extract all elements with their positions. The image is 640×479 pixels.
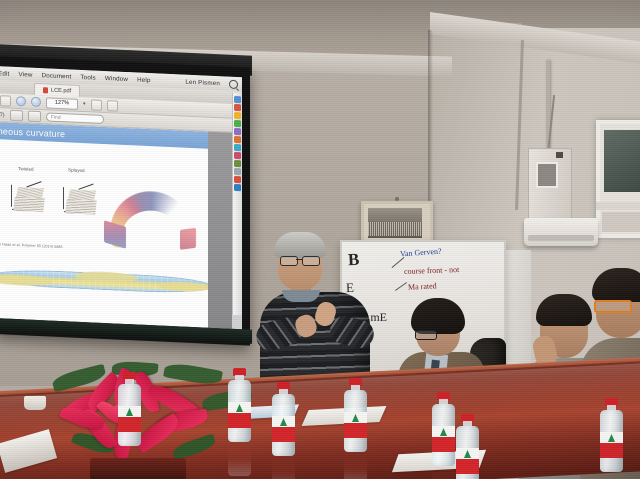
dock-icon[interactable] — [234, 168, 241, 175]
menu-item-edit[interactable]: Edit — [0, 70, 9, 78]
find-input[interactable]: Find — [46, 112, 104, 124]
menu-item-tools[interactable]: Tools — [80, 73, 95, 81]
zoom-level-field[interactable]: 127% — [46, 97, 78, 109]
plant-pot — [90, 458, 186, 479]
presenter-eyeglasses — [280, 256, 322, 264]
whiteboard-ink-4: Van Gerven? — [400, 247, 442, 259]
back-arrow-icon[interactable] — [16, 96, 26, 106]
slide-wavy-ribbon-graphic — [0, 262, 208, 298]
dock-icon[interactable] — [234, 184, 241, 191]
dock-icon[interactable] — [234, 160, 241, 167]
print-icon[interactable] — [107, 100, 118, 111]
forward-arrow-icon[interactable] — [31, 97, 41, 107]
projection-screen: Edit View Document Tools Window Help Len… — [0, 56, 250, 346]
menu-item-help[interactable]: Help — [137, 76, 151, 84]
highlight-icon[interactable] — [10, 110, 23, 122]
menubar-user-name[interactable]: Len Pismen — [185, 78, 220, 87]
dock-icon[interactable] — [234, 176, 241, 183]
air-conditioner-icon — [524, 218, 598, 246]
attendee-1-eyeglasses — [415, 330, 437, 340]
whiteboard-ink-1: B — [347, 250, 359, 271]
desktop-background — [208, 132, 232, 329]
annotate-icon[interactable] — [28, 111, 41, 123]
attendee-3-eyeglasses — [594, 300, 632, 313]
projected-desktop: Edit View Document Tools Window Help Len… — [0, 66, 242, 329]
menu-item-document[interactable]: Document — [42, 72, 72, 80]
dock-icon[interactable] — [234, 152, 241, 159]
attendee-2-hair — [536, 294, 592, 326]
slide-label-twisted: Twisted — [18, 166, 34, 172]
dock-icon[interactable] — [234, 104, 241, 111]
panel-display-window — [536, 162, 558, 188]
pdf-document-icon — [43, 87, 48, 93]
page-number-label: (7) — [0, 112, 5, 118]
sidebar-toggle-icon[interactable] — [0, 95, 11, 106]
macos-dock[interactable] — [232, 93, 242, 315]
chevron-down-icon[interactable]: ▾ — [83, 101, 86, 107]
window — [596, 120, 640, 238]
slide-diagram-twisted — [8, 175, 52, 221]
dock-icon[interactable] — [234, 112, 241, 119]
whiteboard-ink-5: course front - not — [404, 265, 460, 276]
presenter-hair — [274, 232, 326, 258]
conference-room-photo: B E Sic mE Van Gerven? course front - no… — [0, 0, 640, 479]
dock-icon[interactable] — [234, 144, 241, 151]
photo-image — [368, 208, 422, 238]
dock-icon[interactable] — [234, 136, 241, 143]
whiteboard-stroke-1 — [392, 257, 405, 268]
slide-citation: de Haan et al. Polymer 55 (2014) 5885 — [0, 242, 63, 249]
search-icon[interactable] — [229, 79, 238, 88]
menu-item-view[interactable]: View — [18, 71, 32, 79]
pdf-tab-label: LCE.pdf — [51, 87, 71, 94]
menu-item-window[interactable]: Window — [105, 75, 128, 83]
slide-diagram-splayed — [60, 177, 104, 223]
page-view-icon[interactable] — [91, 99, 102, 110]
dock-icon[interactable] — [234, 120, 241, 127]
slide-title: Spontaneous curvature — [0, 124, 65, 138]
slide-curved-ribbon-graphic — [104, 185, 200, 253]
dock-icon[interactable] — [234, 128, 241, 135]
slide-label-splayed: Splayed — [68, 167, 85, 173]
presenter-collar — [282, 290, 320, 302]
panel-indicator — [556, 152, 563, 158]
presentation-slide: Spontaneous curvature Twisted Splayed — [0, 122, 208, 328]
whiteboard-stroke-2 — [395, 282, 407, 291]
whiteboard-ink-6: Ma rated — [408, 281, 437, 291]
paper-cup — [24, 396, 46, 410]
dock-icon[interactable] — [234, 96, 241, 103]
picture-nail — [395, 197, 399, 201]
poinsettia-plant — [52, 362, 252, 479]
